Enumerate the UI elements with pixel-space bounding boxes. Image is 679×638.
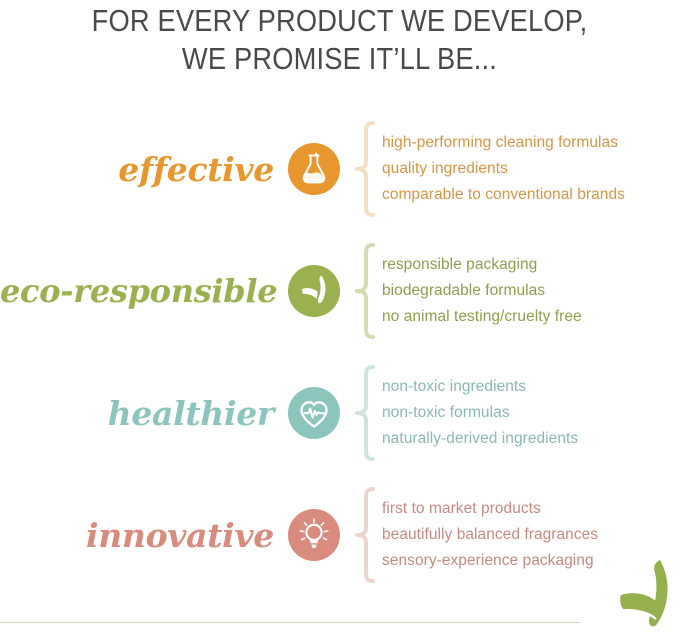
promise-row-effective: effective high-performing clea [0, 108, 679, 230]
list-item: sensory-experience packaging [382, 548, 598, 574]
leaf-logo-icon [599, 558, 675, 638]
list-item: biodegradable formulas [382, 278, 582, 304]
promise-items-eco-responsible: responsible packaging biodegradable form… [378, 252, 582, 330]
brace-healthier [352, 365, 378, 461]
list-item: non-toxic ingredients [382, 374, 578, 400]
brace-eco-responsible [352, 243, 378, 339]
promise-label-eco-responsible: eco-responsible [0, 272, 288, 310]
list-item: responsible packaging [382, 252, 582, 278]
list-item: high-performing cleaning formulas [382, 130, 625, 156]
list-item: naturally-derived ingredients [382, 426, 578, 452]
flask-icon-badge [288, 143, 340, 195]
page-title-line-1: FOR EVERY PRODUCT WE DEVELOP, [41, 2, 639, 40]
promise-items-innovative: first to market products beautifully bal… [378, 496, 598, 574]
leaf-icon-badge [288, 265, 340, 317]
promise-items-effective: high-performing cleaning formulas qualit… [378, 130, 625, 208]
promise-label-effective: effective [0, 150, 288, 189]
page-title: FOR EVERY PRODUCT WE DEVELOP, WE PROMISE… [41, 0, 639, 78]
list-item: comparable to conventional brands [382, 182, 625, 208]
flask-icon [288, 143, 340, 195]
list-item: non-toxic formulas [382, 400, 578, 426]
brace-innovative [352, 487, 378, 583]
list-item: beautifully balanced fragrances [382, 522, 598, 548]
list-item: no animal testing/cruelty free [382, 304, 582, 330]
list-item: first to market products [382, 496, 598, 522]
lightbulb-icon-badge [288, 509, 340, 561]
promise-row-innovative: innovative [0, 474, 679, 596]
promise-row-healthier: healthier non-toxic ingredients non-toxi… [0, 352, 679, 474]
page-title-line-2: WE PROMISE IT’LL BE... [41, 40, 639, 78]
promise-label-healthier: healthier [0, 394, 288, 433]
promise-list: effective high-performing clea [0, 108, 679, 596]
list-item: quality ingredients [382, 156, 625, 182]
heart-pulse-icon [288, 387, 340, 439]
promise-row-eco-responsible: eco-responsible responsible packaging bi… [0, 230, 679, 352]
promise-label-innovative: innovative [0, 516, 288, 555]
footer-divider [0, 622, 580, 623]
lightbulb-icon [288, 509, 340, 561]
heart-pulse-icon-badge [288, 387, 340, 439]
promise-items-healthier: non-toxic ingredients non-toxic formulas… [378, 374, 578, 452]
leaf-icon [288, 265, 340, 317]
brace-effective [352, 121, 378, 217]
